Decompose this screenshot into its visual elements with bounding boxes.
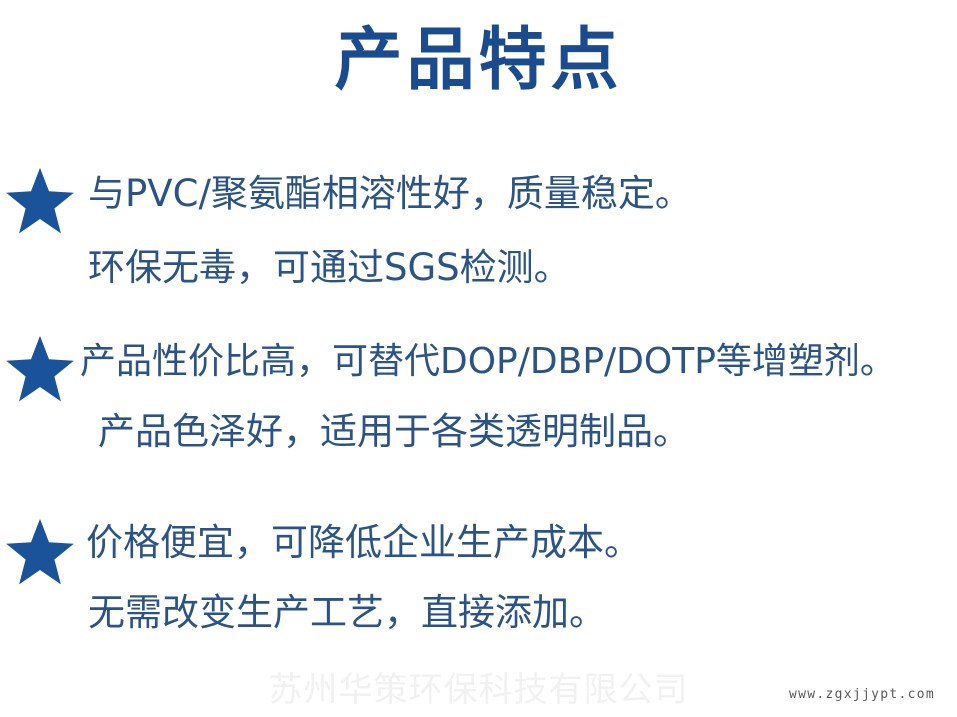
- feature-line: 与PVC/聚氨酯相溶性好，质量稳定。: [0, 170, 957, 218]
- feature-item-2-text: 产品性价比高，可替代DOP/DBP/DOTP等增塑剂。 产品色泽好，适用于各类透…: [0, 338, 957, 456]
- slide-canvas: 产品特点 与PVC/聚氨酯相溶性好，质量稳定。 环保无毒，可通过SGS检测。 产…: [0, 0, 957, 717]
- feature-line: 产品性价比高，可替代DOP/DBP/DOTP等增塑剂。: [0, 338, 957, 386]
- feature-list: 与PVC/聚氨酯相溶性好，质量稳定。 环保无毒，可通过SGS检测。 产品性价比高…: [0, 150, 957, 645]
- feature-item-1: 与PVC/聚氨酯相溶性好，质量稳定。 环保无毒，可通过SGS检测。: [0, 150, 957, 320]
- feature-item-3: 价格便宜，可降低企业生产成本。 无需改变生产工艺，直接添加。: [0, 505, 957, 645]
- feature-line: 无需改变生产工艺，直接添加。: [0, 589, 957, 637]
- feature-line: 环保无毒，可通过SGS检测。: [0, 244, 957, 292]
- page-title: 产品特点: [0, 14, 957, 108]
- feature-line: 产品色泽好，适用于各类透明制品。: [0, 408, 957, 456]
- website-url: www.zgxjjypt.com: [789, 686, 935, 704]
- feature-item-3-text: 价格便宜，可降低企业生产成本。 无需改变生产工艺，直接添加。: [0, 519, 957, 637]
- feature-item-2: 产品性价比高，可替代DOP/DBP/DOTP等增塑剂。 产品色泽好，适用于各类透…: [0, 320, 957, 505]
- feature-item-1-text: 与PVC/聚氨酯相溶性好，质量稳定。 环保无毒，可通过SGS检测。: [0, 170, 957, 292]
- feature-line: 价格便宜，可降低企业生产成本。: [0, 519, 957, 567]
